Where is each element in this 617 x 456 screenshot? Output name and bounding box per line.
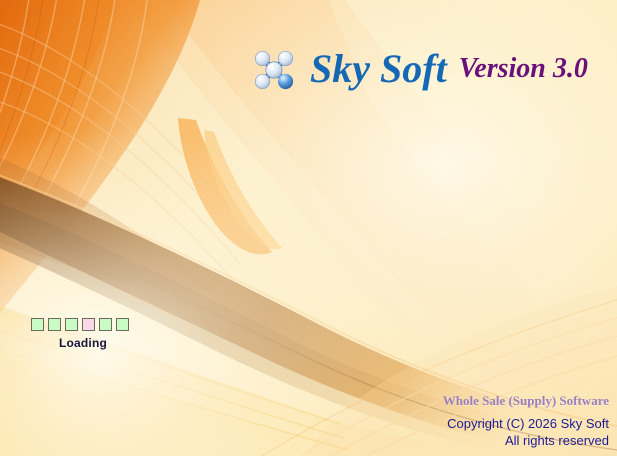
molecule-network-icon [252, 48, 296, 92]
brand-row: Sky Soft Version 3.0 [252, 44, 588, 96]
loading-cell [48, 318, 61, 331]
brand-name: Sky Soft [310, 49, 447, 92]
rights-line: All rights reserved [443, 432, 609, 450]
copyright-line: Copyright (C) 2026 Sky Soft [443, 415, 609, 433]
loading-cell [116, 318, 129, 331]
product-tagline: Whole Sale (Supply) Software [443, 393, 609, 409]
brand-version: Version 3.0 [459, 55, 588, 85]
footer: Whole Sale (Supply) Software Copyright (… [443, 393, 609, 450]
loading-cell-active [82, 318, 95, 331]
loading-cell [65, 318, 78, 331]
loading-cell [99, 318, 112, 331]
loading-label: Loading [31, 336, 135, 350]
loading-indicator: Loading [31, 318, 141, 350]
loading-cell [31, 318, 44, 331]
loading-cells [31, 318, 141, 331]
splash-screen: Sky Soft Version 3.0 Loading Whole Sale … [0, 0, 617, 456]
